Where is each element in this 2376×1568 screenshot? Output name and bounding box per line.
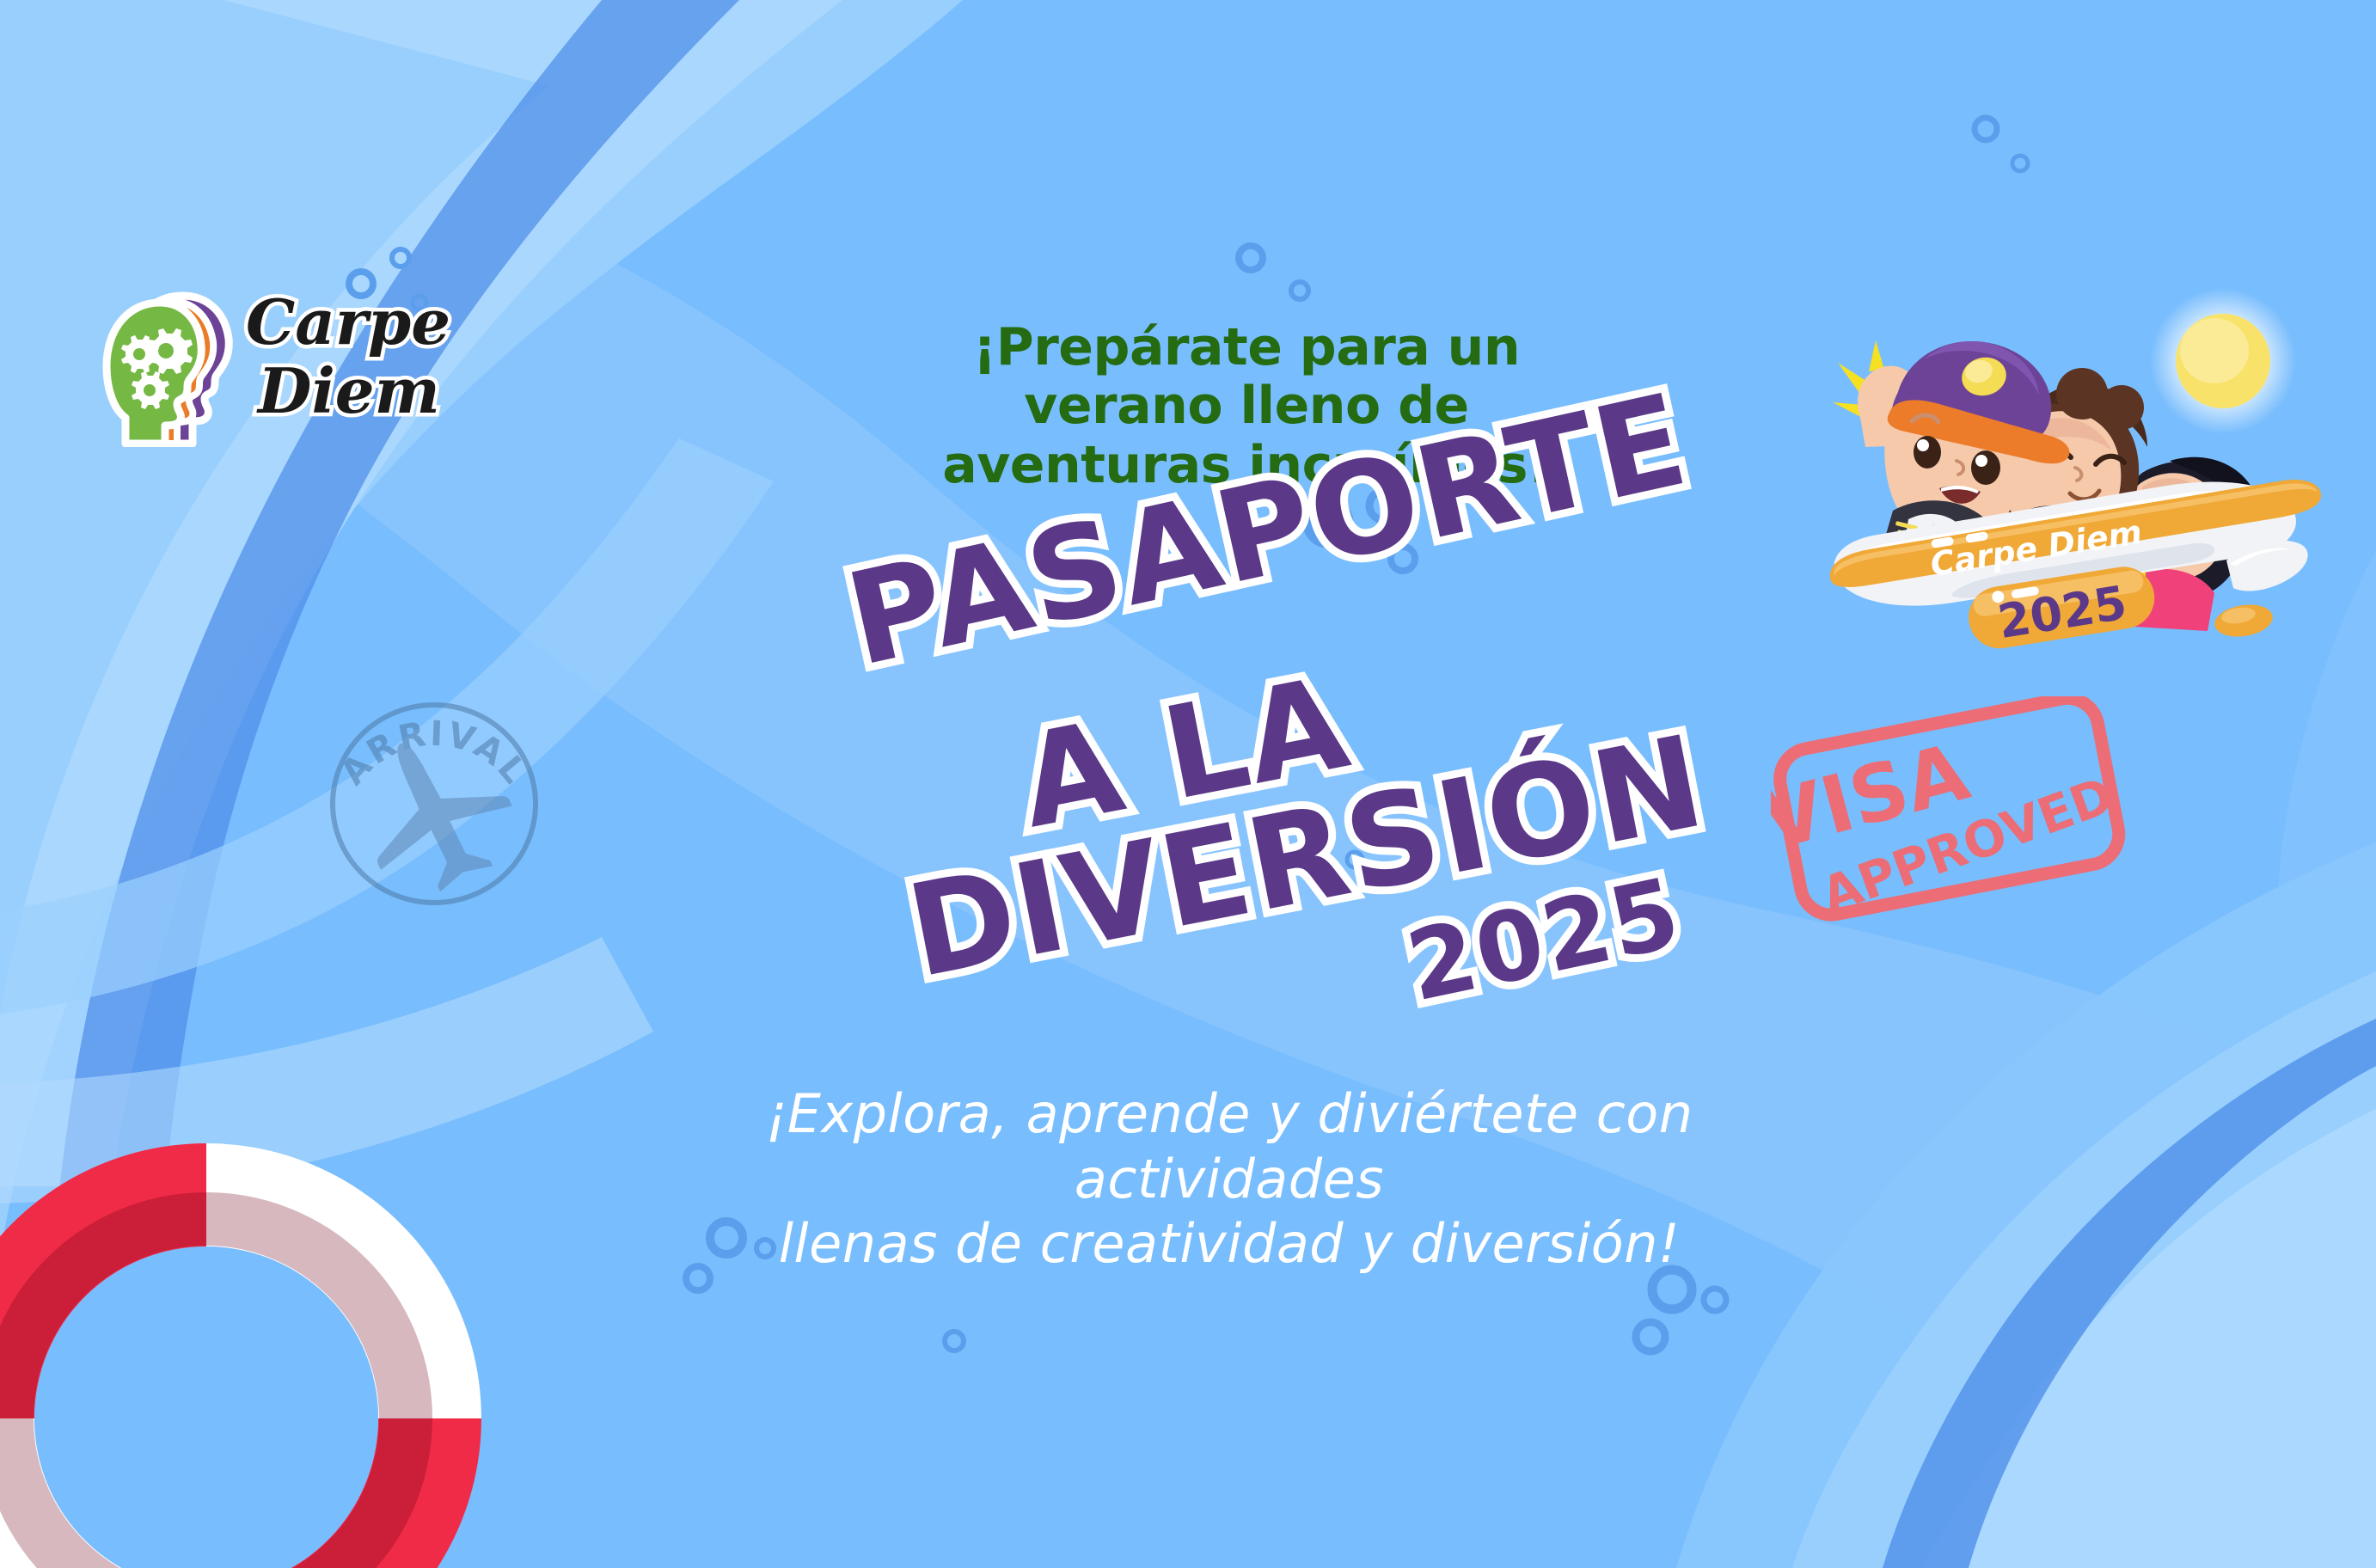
subtitle-line-2: llenas de creatividad y diversión! <box>653 1211 1805 1277</box>
tagline-line-3: aventuras increíbles! <box>860 436 1633 494</box>
visa-approved-stamp: VISA APPROVED <box>1771 696 2132 937</box>
logo-wordmark: Carpe Diem <box>242 277 457 449</box>
logo-line1: Carpe <box>246 285 450 358</box>
tagline-line-1: ¡Prepárate para un <box>860 318 1633 377</box>
logo-line2: Diem <box>256 354 440 427</box>
life-ring-illustration <box>0 1109 516 1568</box>
carpe-diem-logo[interactable]: Carpe Diem <box>96 284 449 447</box>
tagline-line-2: verano lleno de <box>860 377 1633 435</box>
arrival-stamp-label: ARRIVAL <box>333 714 536 793</box>
poster-canvas: Carpe Diem ¡Prepárate para un verano lle… <box>0 0 2376 1568</box>
arrival-stamp: ARRIVAL <box>318 696 550 911</box>
head-gears-icon <box>96 284 238 447</box>
tagline-block: ¡Prepárate para un verano lleno de avent… <box>860 318 1633 494</box>
subtitle-line-1: ¡Explora, aprende y diviértete con activ… <box>653 1081 1805 1211</box>
subtitle-block: ¡Explora, aprende y diviértete con activ… <box>653 1081 1805 1277</box>
kids-airplane-illustration: 2025 Carpe Diem <box>1822 292 2321 662</box>
